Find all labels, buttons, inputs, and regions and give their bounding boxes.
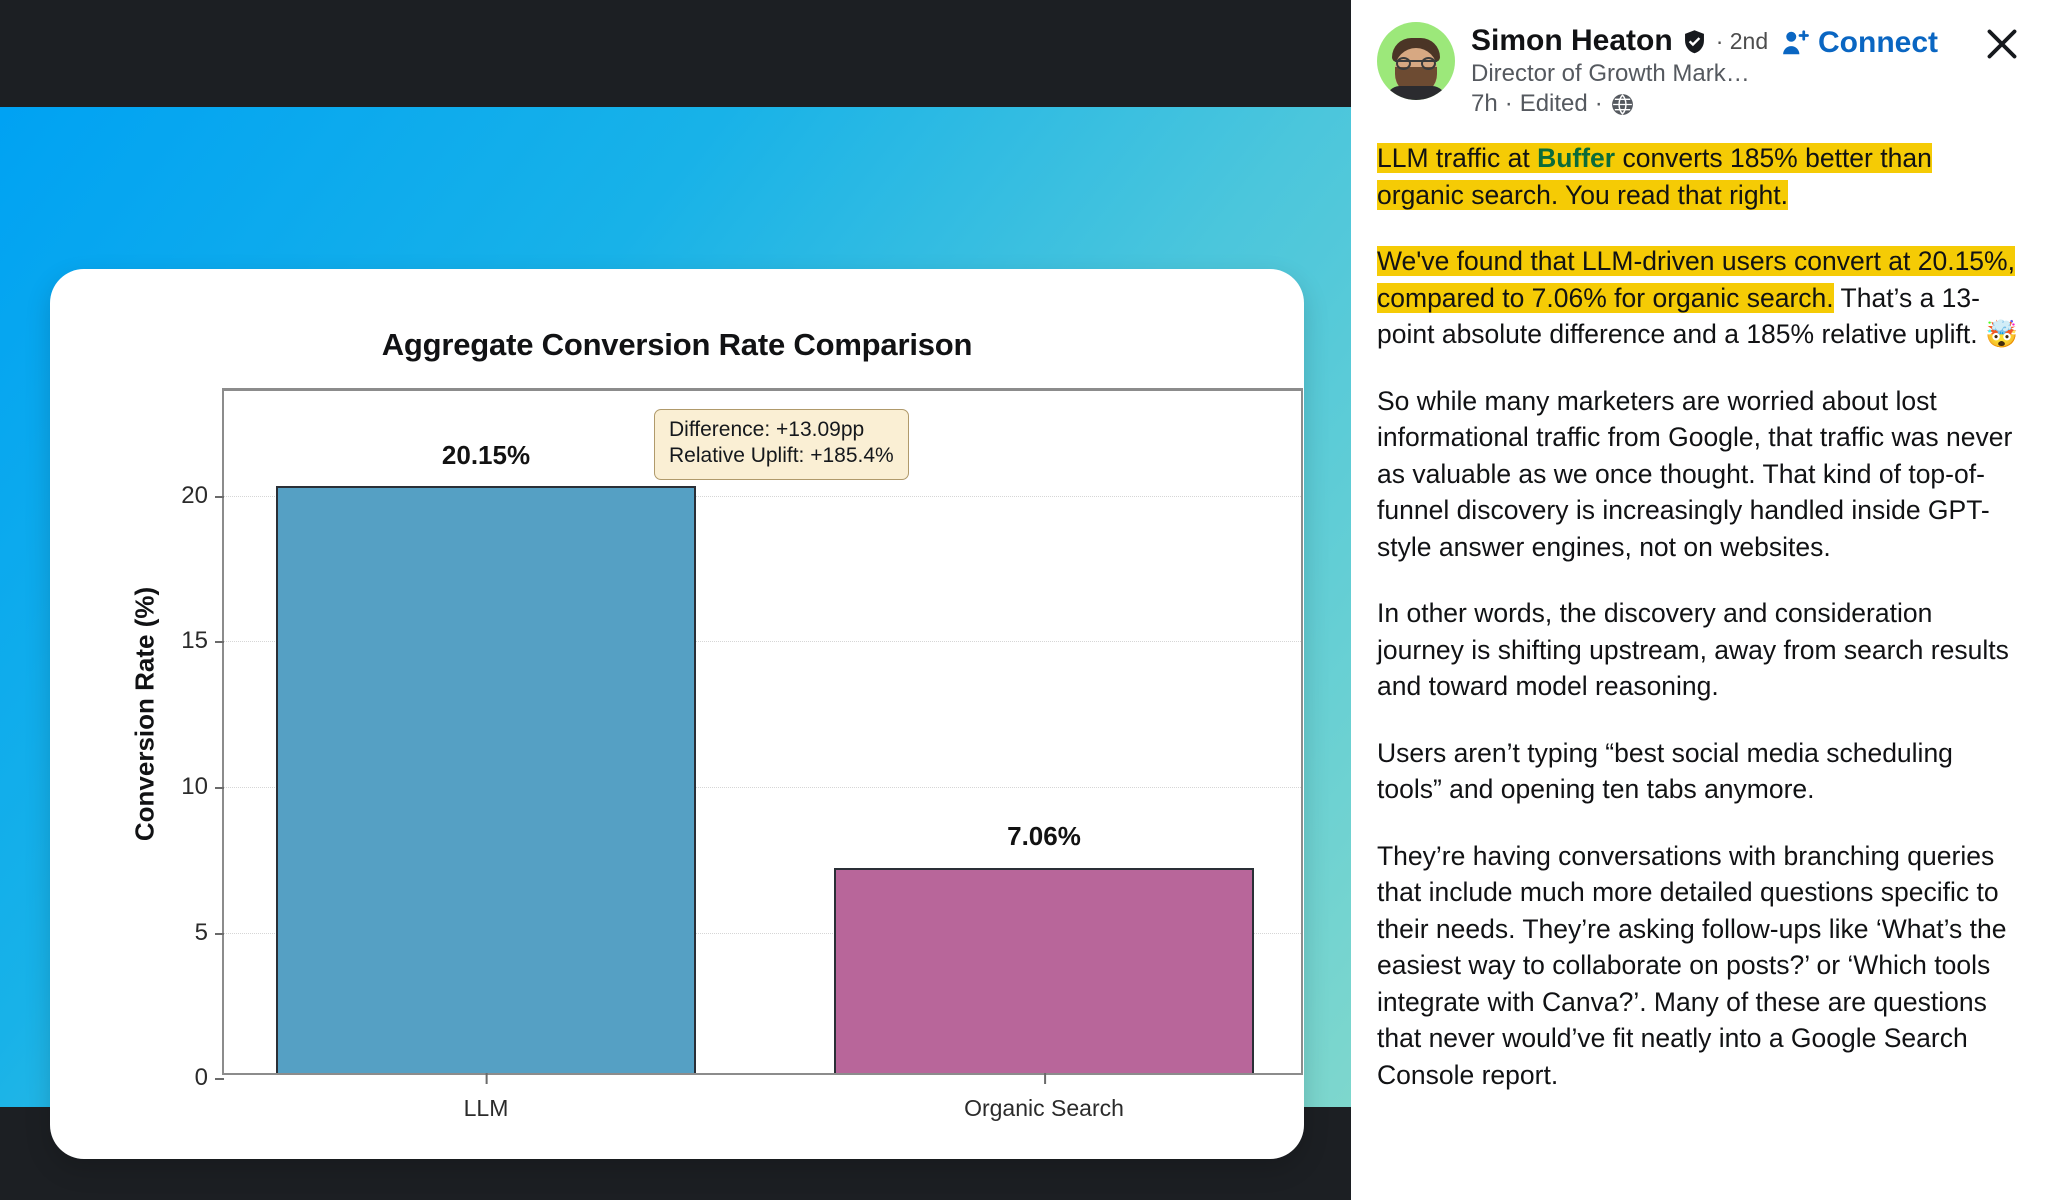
meta-separator-1: · <box>1505 90 1513 118</box>
paragraph-1-part-a: LLM traffic at <box>1377 143 1537 173</box>
plot-area: 0 5 10 15 20 20.15% 7.06% Difference: +1… <box>222 388 1303 1075</box>
person-plus-icon <box>1780 28 1810 58</box>
annotation-relative-uplift: Relative Uplift: +185.4% <box>669 443 894 469</box>
media-viewer-pane: Aggregate Conversion Rate Comparison 0 5… <box>0 0 1351 1200</box>
post-paragraph-3: So while many marketers are worried abou… <box>1377 383 2022 566</box>
bar-organic-search[interactable] <box>834 868 1254 1074</box>
post-detail-pane: Simon Heaton · 2nd Director of Growth Ma… <box>1351 0 2048 1200</box>
xtick-organic-search: Organic Search <box>964 1095 1124 1122</box>
post-time: 7h <box>1471 90 1498 118</box>
bar-value-label-llm: 20.15% <box>276 440 696 471</box>
xtick-llm: LLM <box>464 1095 509 1122</box>
author-name[interactable]: Simon Heaton <box>1471 24 1673 58</box>
avatar-lens-right <box>1421 57 1436 70</box>
globe-icon <box>1610 92 1635 117</box>
app-root: Aggregate Conversion Rate Comparison 0 5… <box>0 0 2048 1200</box>
ytick-10: 10 <box>181 773 224 801</box>
post-paragraph-1: LLM traffic at Buffer converts 185% bett… <box>1377 140 2022 213</box>
post-paragraph-6: They’re having conversations with branch… <box>1377 838 2022 1094</box>
ytick-15: 15 <box>181 627 224 655</box>
author-info: Simon Heaton · 2nd Director of Growth Ma… <box>1471 22 1754 118</box>
post-paragraph-2: We've found that LLM-driven users conver… <box>1377 243 2022 353</box>
annotation-difference: Difference: +13.09pp <box>669 417 894 443</box>
chart-card: Aggregate Conversion Rate Comparison 0 5… <box>50 269 1304 1159</box>
y-axis-label: Conversion Rate (%) <box>130 587 161 841</box>
annotation-box: Difference: +13.09pp Relative Uplift: +1… <box>654 409 909 480</box>
post-paragraph-5: Users aren’t typing “best social media s… <box>1377 735 2022 808</box>
post-meta: 7h · Edited · <box>1471 90 1754 118</box>
avatar-lens-left <box>1396 57 1411 70</box>
avatar-glasses-shape <box>1395 60 1437 72</box>
bar-llm[interactable] <box>276 486 696 1073</box>
highlight-span-1: LLM traffic at Buffer converts 185% bett… <box>1377 143 1932 210</box>
brand-mention-buffer[interactable]: Buffer <box>1537 143 1615 173</box>
post-body: LLM traffic at Buffer converts 185% bett… <box>1377 140 2022 1093</box>
verified-shield-icon <box>1681 28 1708 55</box>
ytick-20: 20 <box>181 482 224 510</box>
connect-button-label: Connect <box>1818 26 1938 60</box>
meta-separator-2: · <box>1595 90 1603 118</box>
avatar[interactable] <box>1377 22 1455 100</box>
connect-button[interactable]: Connect <box>1770 22 1948 64</box>
author-headline: Director of Growth Marketin… <box>1471 60 1754 88</box>
author-name-row: Simon Heaton · 2nd <box>1471 24 1754 58</box>
image-gradient-background: Aggregate Conversion Rate Comparison 0 5… <box>0 107 1351 1107</box>
post-paragraph-4: In other words, the discovery and consid… <box>1377 595 2022 705</box>
ytick-5: 5 <box>195 919 224 947</box>
connection-degree: · 2nd <box>1716 28 1768 55</box>
avatar-shoulders-shape <box>1386 86 1446 100</box>
bar-value-label-organic-search: 7.06% <box>834 821 1254 852</box>
ytick-0: 0 <box>195 1064 224 1092</box>
chart-title: Aggregate Conversion Rate Comparison <box>50 327 1304 363</box>
close-icon[interactable] <box>1982 22 2022 66</box>
post-edited-flag: Edited <box>1520 90 1588 118</box>
post-header: Simon Heaton · 2nd Director of Growth Ma… <box>1377 22 2022 118</box>
